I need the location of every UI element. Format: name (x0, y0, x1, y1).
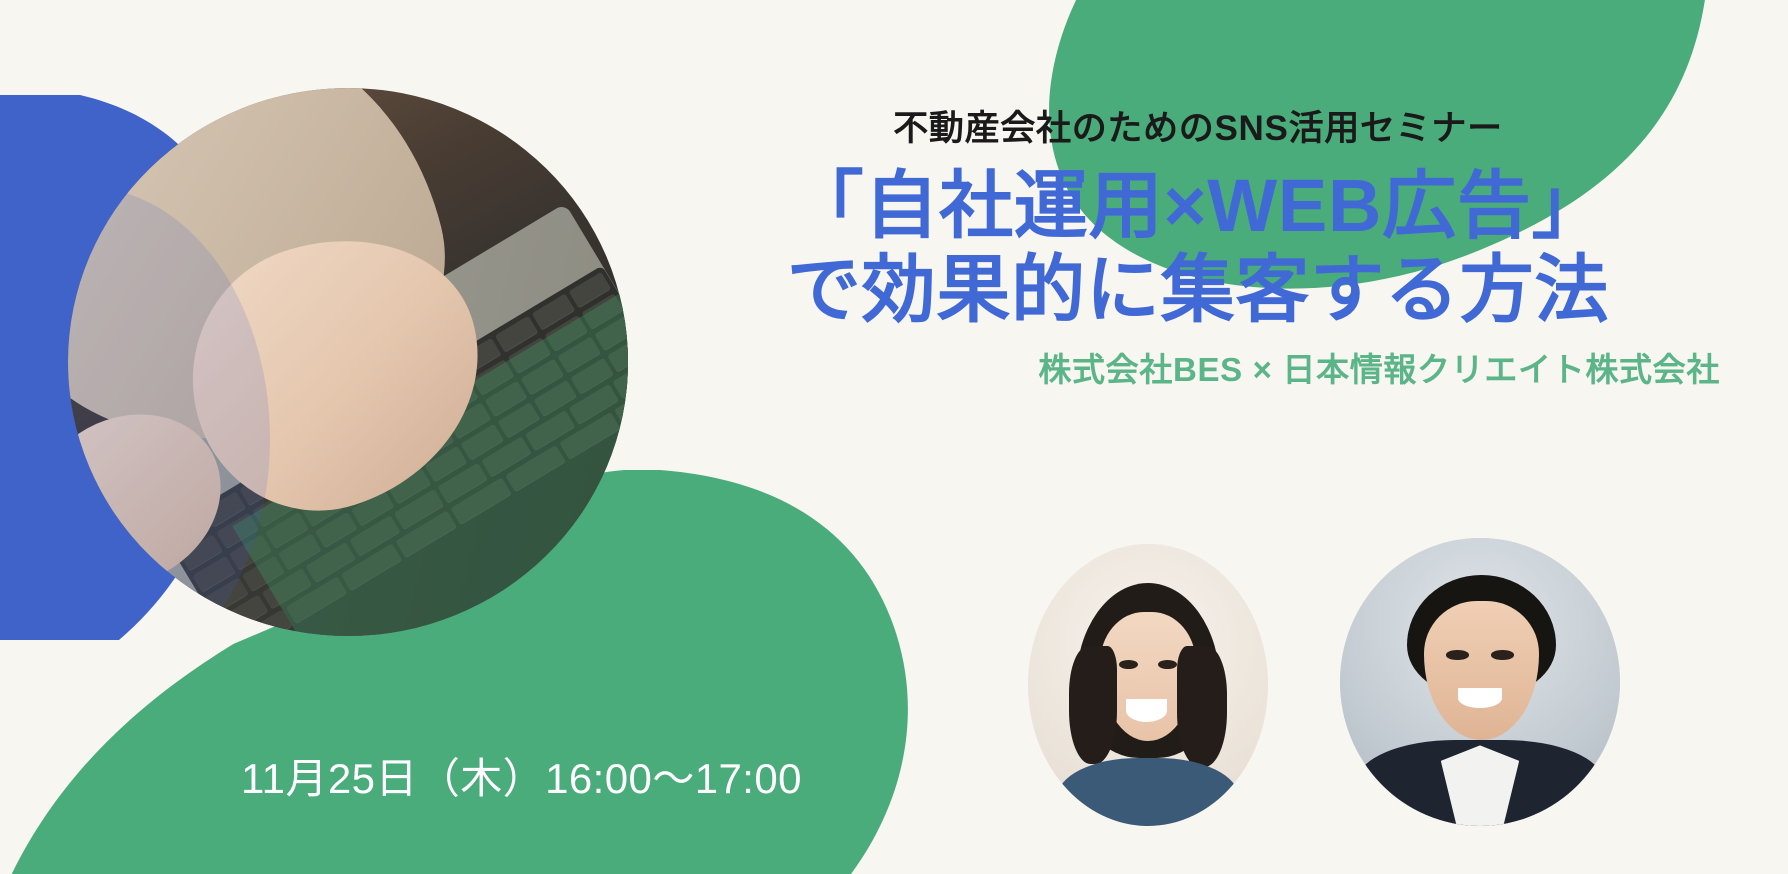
eyebrow-text: 不動産会社のためのSNS活用セミナー (668, 108, 1728, 150)
smile-female (1126, 699, 1167, 722)
speaker-portrait-male (1340, 538, 1620, 826)
eye-right-female (1158, 660, 1177, 669)
headline-block: 不動産会社のためのSNS活用セミナー 「自社運用×WEB広告」 で効果的に集客す… (668, 108, 1728, 423)
eye-left-male (1446, 650, 1468, 659)
eye-right-male (1491, 650, 1513, 659)
event-date-time: 11月25日（木）16:00〜17:00 (241, 754, 802, 804)
seminar-banner: 不動産会社のためのSNS活用セミナー 「自社運用×WEB広告」 で効果的に集客す… (0, 0, 1788, 874)
presenters-text: 株式会社BES × 日本情報クリエイト株式会社 (668, 349, 1728, 390)
hair-left-female (1069, 646, 1117, 764)
hero-photo-laptop-typing (68, 88, 628, 636)
hair-right-female (1177, 646, 1227, 767)
eye-left-female (1119, 660, 1138, 669)
title-line-2: で効果的に集客する方法 (668, 248, 1728, 332)
smile-male (1458, 688, 1503, 708)
title-line-1: 「自社運用×WEB広告」 (668, 164, 1728, 248)
speaker-portrait-female (1028, 544, 1268, 826)
clothing-female (1057, 758, 1239, 826)
hero-photo-image (68, 88, 628, 636)
